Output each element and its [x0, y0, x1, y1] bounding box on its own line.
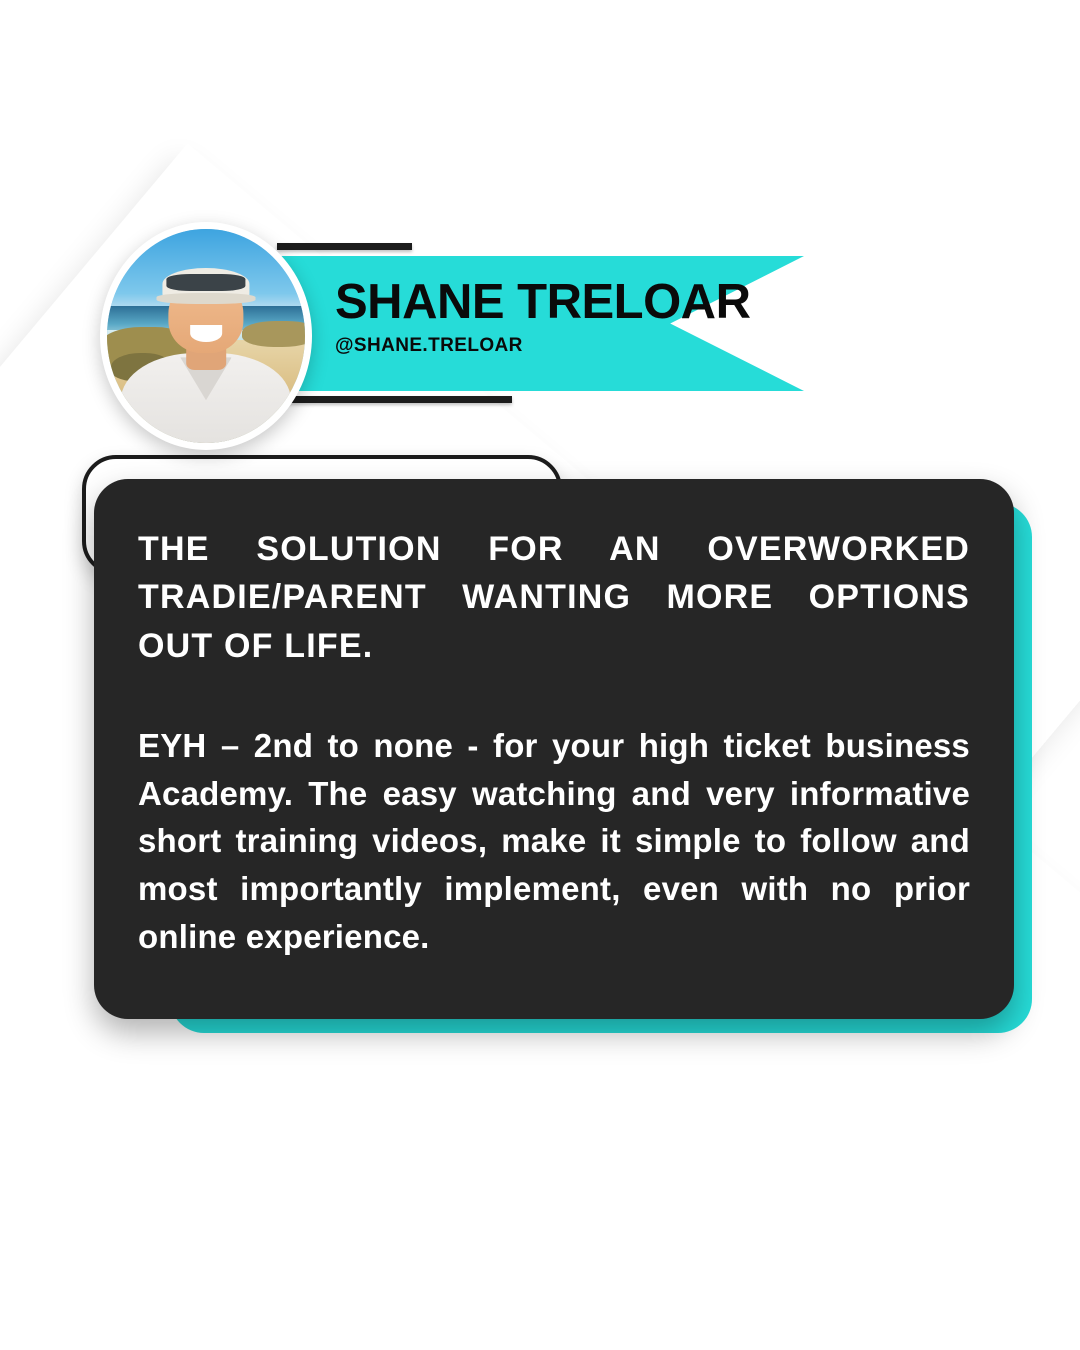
- avatar-rock-right: [242, 321, 305, 347]
- quote-card: THE SOLUTION FOR AN OVERWORKED TRADIE/PA…: [94, 479, 1014, 1019]
- profile-name: SHANE TRELOAR: [335, 278, 855, 327]
- avatar-sunglasses: [166, 274, 245, 291]
- quote-card-stack: THE SOLUTION FOR AN OVERWORKED TRADIE/PA…: [82, 455, 1032, 1035]
- name-banner-content: SHANE TRELOAR @SHANE.TRELOAR: [335, 278, 855, 357]
- decorative-rule-bottom: [277, 396, 512, 403]
- avatar-smile: [190, 325, 222, 342]
- avatar: [100, 222, 312, 450]
- quote-heading: THE SOLUTION FOR AN OVERWORKED TRADIE/PA…: [138, 525, 970, 670]
- avatar-cap-brim: [157, 293, 256, 304]
- quote-body: EYH – 2nd to none - for your high ticket…: [138, 722, 970, 961]
- profile-handle: @SHANE.TRELOAR: [335, 335, 855, 357]
- testimonial-graphic: WELCOME SHANE TRELOAR @SHANE.TRELOAR: [0, 0, 1080, 1350]
- avatar-photo: [107, 229, 305, 443]
